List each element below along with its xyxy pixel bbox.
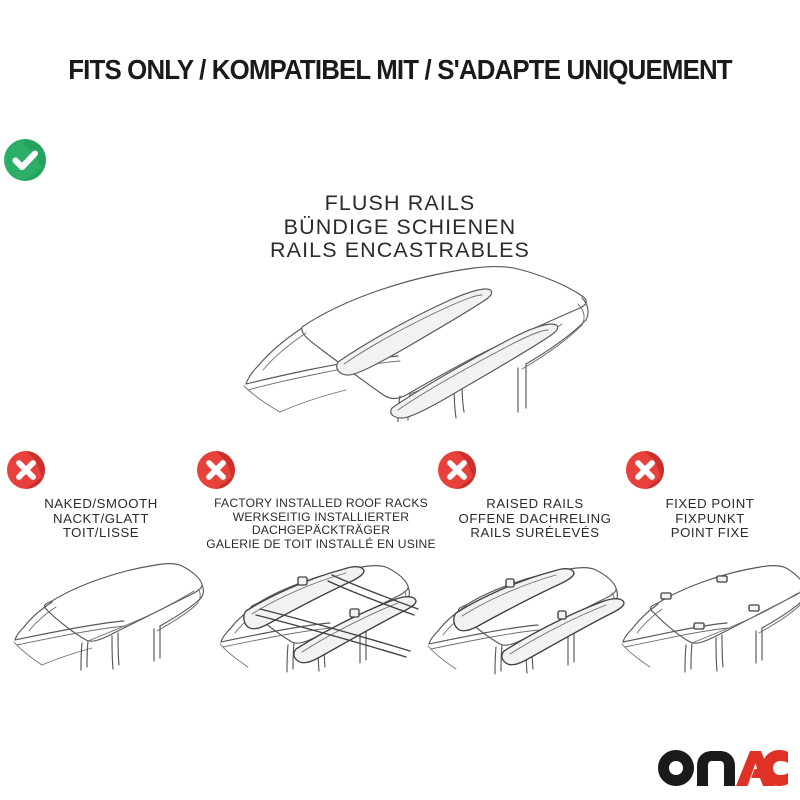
cross-circle-icon [6, 450, 196, 490]
compatible-option: FLUSH RAILS BÜNDIGE SCHIENEN RAILS ENCAS… [0, 138, 800, 263]
compatible-line-en: FLUSH RAILS [0, 192, 800, 216]
option-line-en: FIXED POINT [625, 497, 795, 512]
incompatible-option-naked-smooth: NAKED/SMOOTH NACKT/GLATT TOIT/LISSE [6, 450, 196, 541]
option-line-en: FACTORY INSTALLED ROOF RACKS [196, 497, 446, 511]
option-line-fr: GALERIE DE TOIT INSTALLÉ EN USINE [196, 538, 446, 552]
option-line-fr: RAILS SURÉLEVÉS [437, 526, 633, 541]
incompatible-option-factory-racks: FACTORY INSTALLED ROOF RACKS WERKSEITIG … [196, 450, 446, 551]
option-line-de: FIXPUNKT [625, 512, 795, 527]
car-roof-raised-rails-illustration [418, 553, 628, 678]
compatible-line-de: BÜNDIGE SCHIENEN [0, 216, 800, 240]
check-circle-icon [0, 138, 800, 183]
option-line-de: NACKT/GLATT [6, 512, 196, 527]
option-line-de-1: WERKSEITIG INSTALLIERTER [196, 511, 446, 525]
cross-circle-icon [625, 450, 795, 490]
option-line-de-2: DACHGEPÄCKTRÄGER [196, 524, 446, 538]
incompatible-option-fixed-point: FIXED POINT FIXPUNKT POINT FIXE [625, 450, 795, 541]
incompatible-option-raised-rails: RAISED RAILS OFFENE DACHRELING RAILS SUR… [437, 450, 633, 541]
incompatible-caption-raised-rails: RAISED RAILS OFFENE DACHRELING RAILS SUR… [437, 497, 633, 541]
car-roof-flush-rails-illustration [222, 262, 592, 422]
option-line-en: RAISED RAILS [437, 497, 633, 512]
car-roof-naked-illustration [4, 553, 204, 678]
cross-circle-icon [196, 450, 446, 490]
option-line-fr: POINT FIXE [625, 526, 795, 541]
incompatible-caption-naked-smooth: NAKED/SMOOTH NACKT/GLATT TOIT/LISSE [6, 497, 196, 541]
page-title: FITS ONLY / KOMPATIBEL MIT / S'ADAPTE UN… [24, 54, 776, 86]
omac-logo [658, 750, 788, 786]
cross-circle-icon [437, 450, 633, 490]
incompatible-caption-fixed-point: FIXED POINT FIXPUNKT POINT FIXE [625, 497, 795, 541]
option-line-en: NAKED/SMOOTH [6, 497, 196, 512]
car-roof-factory-racks-illustration [210, 553, 425, 678]
option-line-de: OFFENE DACHRELING [437, 512, 633, 527]
compatible-caption: FLUSH RAILS BÜNDIGE SCHIENEN RAILS ENCAS… [0, 192, 800, 263]
car-roof-fixed-point-illustration [614, 553, 800, 678]
incompatible-caption-factory-racks: FACTORY INSTALLED ROOF RACKS WERKSEITIG … [196, 497, 446, 551]
option-line-fr: TOIT/LISSE [6, 526, 196, 541]
compatible-line-fr: RAILS ENCASTRABLES [0, 239, 800, 263]
